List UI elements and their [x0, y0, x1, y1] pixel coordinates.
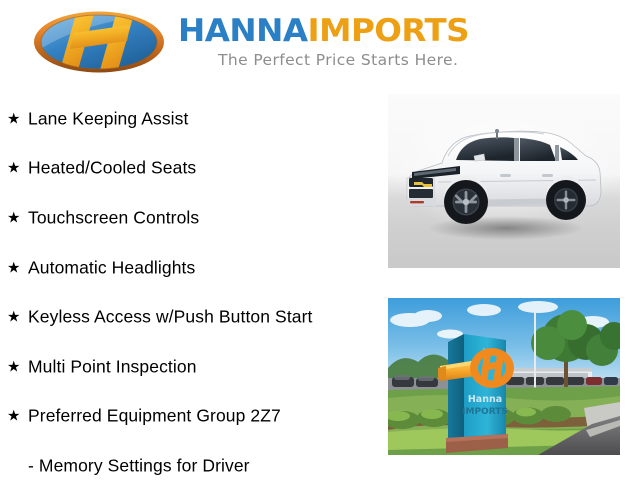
star-bullet-icon: ★	[7, 310, 20, 325]
svg-text:Hanna: Hanna	[468, 394, 502, 405]
vehicle-feature-list: ★Lane Keeping Assist★Heated/Cooled Seats…	[0, 94, 380, 491]
feature-item: ★Preferred Equipment Group 2Z7	[0, 392, 380, 442]
wordmark-hanna: HANNA	[178, 13, 307, 49]
feature-label: Lane Keeping Assist	[28, 108, 189, 129]
feature-label: Automatic Headlights	[28, 257, 195, 278]
feature-item: ★Multi Point Inspection	[0, 342, 380, 392]
star-bullet-icon: ★	[7, 210, 20, 225]
star-bullet-icon: ★	[7, 111, 20, 126]
brand-tagline: The Perfect Price Starts Here.	[218, 51, 458, 69]
feature-label: - Memory Settings for Driver	[28, 455, 250, 476]
star-bullet-icon: ★	[7, 260, 20, 275]
feature-item: ★Keyless Access w/Push Button Start	[0, 292, 380, 342]
vehicle-photo	[388, 94, 620, 268]
feature-label: Heated/Cooled Seats	[28, 158, 196, 179]
brand-header: HANNAIMPORTS The Perfect Price Starts He…	[0, 0, 640, 88]
feature-item: ★Heated/Cooled Seats	[0, 144, 380, 194]
svg-text:IMPORTS: IMPORTS	[462, 407, 508, 417]
brand-wordmark: HANNAIMPORTS	[178, 14, 518, 48]
dealership-illustration: 240 Hanna IMPORTS	[388, 298, 620, 455]
wordmark-imports: IMPORTS	[307, 13, 469, 49]
star-bullet-icon: ★	[7, 409, 20, 424]
dealership-photo: 240 Hanna IMPORTS	[388, 298, 620, 455]
feature-label: Multi Point Inspection	[28, 356, 197, 377]
feature-label: Keyless Access w/Push Button Start	[28, 307, 313, 328]
feature-item: ★Automatic Headlights	[0, 243, 380, 293]
feature-label: Preferred Equipment Group 2Z7	[28, 406, 281, 427]
feature-item: ★Lane Keeping Assist	[0, 94, 380, 144]
hanna-imports-emblem-icon	[32, 11, 166, 73]
star-bullet-icon: ★	[7, 359, 20, 374]
feature-item: ★Touchscreen Controls	[0, 193, 380, 243]
feature-label: Touchscreen Controls	[28, 207, 199, 228]
suv-illustration	[388, 94, 620, 268]
star-bullet-icon: ★	[7, 161, 20, 176]
feature-sub-item: - Memory Settings for Driver	[0, 441, 380, 491]
